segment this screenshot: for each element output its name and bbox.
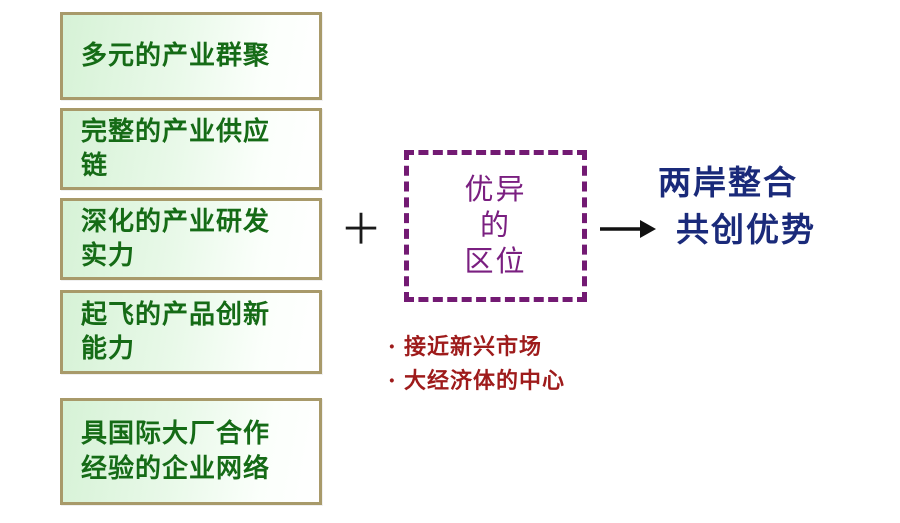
- advantage-box-1[interactable]: 多元的产业群聚: [60, 12, 322, 100]
- location-line-2: 的: [480, 208, 511, 244]
- bullet-dot-icon: ·: [388, 330, 404, 364]
- location-line-1: 优异: [464, 172, 526, 208]
- advantage-box-1-label: 多元的产业群聚: [81, 39, 270, 73]
- location-bullet-list: ·接近新兴市场 ·大经济体的中心: [388, 330, 648, 398]
- bullet-item-2-label: 大经济体的中心: [404, 368, 565, 394]
- location-line-3: 区位: [464, 244, 526, 280]
- advantage-box-2[interactable]: 完整的产业供应 链: [60, 108, 322, 190]
- advantage-box-3-label: 深化的产业研发 实力: [81, 205, 270, 274]
- slide-canvas: 多元的产业群聚 完整的产业供应 链 深化的产业研发 实力 起飞的产品创新 能力 …: [0, 0, 900, 523]
- list-item: ·接近新兴市场: [388, 330, 648, 364]
- bullet-item-1-label: 接近新兴市场: [404, 334, 542, 360]
- conclusion-line-1: 两岸整合: [658, 160, 888, 207]
- advantage-box-4-label: 起飞的产品创新 能力: [81, 298, 270, 367]
- arrow-right-icon: [600, 212, 656, 246]
- advantage-box-5[interactable]: 具国际大厂合作 经验的企业网络: [60, 398, 322, 505]
- bullet-dot-icon: ·: [388, 364, 404, 398]
- list-item: ·大经济体的中心: [388, 364, 648, 398]
- conclusion-line-2: 共创优势: [658, 207, 888, 254]
- advantage-box-5-label: 具国际大厂合作 经验的企业网络: [81, 417, 270, 486]
- location-advantage-box[interactable]: 优异 的 区位: [404, 150, 587, 302]
- advantage-box-2-label: 完整的产业供应 链: [81, 115, 270, 184]
- advantage-box-4[interactable]: 起飞的产品创新 能力: [60, 290, 322, 374]
- advantage-box-3[interactable]: 深化的产业研发 实力: [60, 198, 322, 280]
- conclusion-text: 两岸整合 共创优势: [658, 160, 888, 254]
- plus-operator-icon: ＋: [340, 205, 380, 255]
